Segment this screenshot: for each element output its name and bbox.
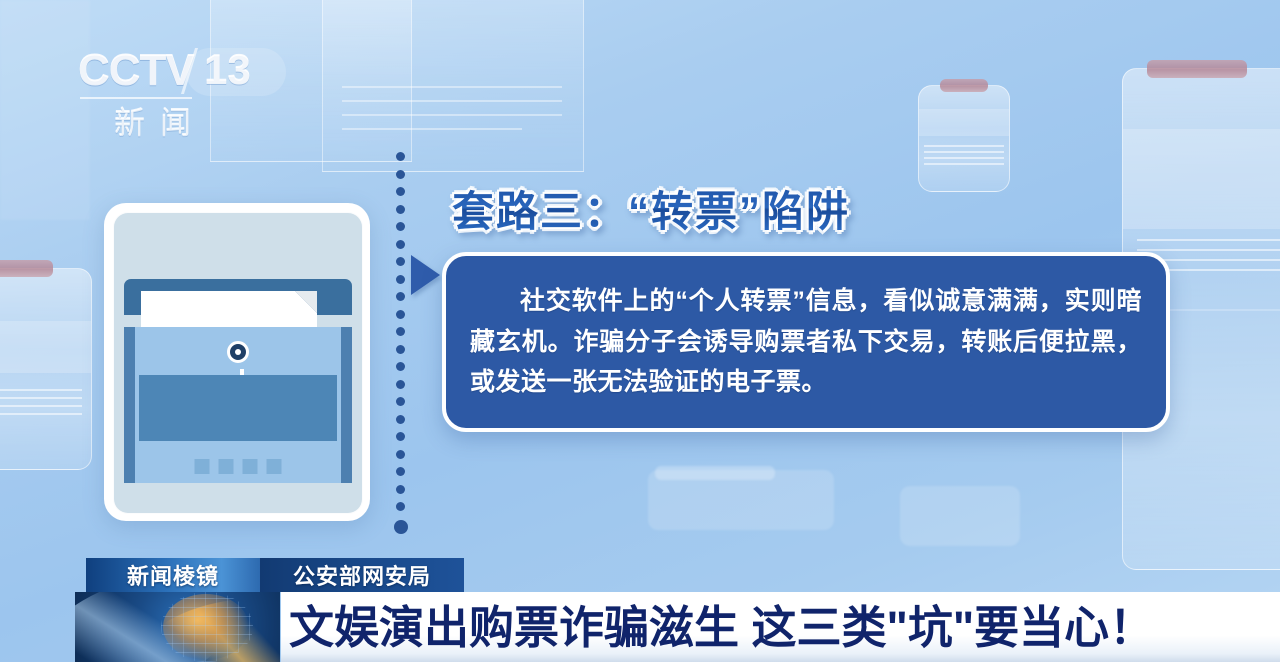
- logo-channel-number: 13: [204, 46, 251, 94]
- ticket-badge-icon: [227, 341, 249, 363]
- timeline-dot: [396, 240, 405, 249]
- background-document-line: [342, 100, 562, 102]
- ticket-pocket-right-edge: [341, 327, 352, 483]
- ticket-dot: [243, 459, 258, 474]
- clipboard-band: [1123, 129, 1280, 229]
- clipboard-clip-icon: [940, 79, 988, 92]
- section-title: 套路三：“转票”陷阱: [452, 178, 850, 239]
- content-callout-box: 社交软件上的“个人转票”信息，看似诚意满满，实则暗藏玄机。诈骗分子会诱导购票者私…: [442, 252, 1170, 432]
- dotted-timeline-icon: [394, 152, 408, 542]
- timeline-dot: [396, 485, 405, 494]
- ticket-card-inner: [113, 212, 363, 514]
- lower-third: 新闻棱镜 公安部网安局 文娱演出购票诈骗滋生 这三类"坑"要当心！: [0, 552, 1280, 662]
- timeline-dot: [396, 415, 405, 424]
- timeline-dot: [396, 187, 405, 196]
- logo-cctv-text: CCTV: [78, 46, 194, 96]
- timeline-dot: [396, 310, 405, 319]
- ticket-dot: [195, 459, 210, 474]
- headline-text: 文娱演出购票诈骗滋生 这三类"坑"要当心！: [289, 605, 1154, 650]
- background-document-line: [342, 86, 562, 88]
- timeline-dot: [396, 380, 405, 389]
- timeline-dot: [396, 205, 405, 214]
- timeline-dot: [396, 502, 405, 511]
- background-soft-shape: [900, 486, 1020, 546]
- program-tag: 新闻棱镜: [86, 558, 260, 592]
- background-soft-shape: [0, 0, 90, 220]
- clipboard-lines: [0, 389, 82, 421]
- timeline-dot: [396, 257, 405, 266]
- source-tag: 公安部网安局: [260, 558, 464, 592]
- content-body-text: 社交软件上的“个人转票”信息，看似诚意满满，实则暗藏玄机。诈骗分子会诱导购票者私…: [470, 281, 1142, 403]
- timeline-dot: [396, 432, 405, 441]
- timeline-dot: [396, 345, 405, 354]
- ticket-content-slab: [139, 375, 337, 441]
- clipboard-band: [919, 109, 1009, 136]
- timeline-dot: [396, 450, 405, 459]
- timeline-dot: [396, 467, 405, 476]
- headline-bar: 文娱演出购票诈骗滋生 这三类"坑"要当心！: [281, 592, 1280, 662]
- triangle-right-icon: [411, 255, 440, 295]
- clipboard-band: [0, 321, 91, 373]
- timeline-dot: [396, 362, 405, 371]
- ticket-perforation-dots: [195, 459, 282, 474]
- ticket-pocket-left-edge: [124, 327, 135, 483]
- background-document-line: [342, 114, 562, 116]
- timeline-dot: [396, 327, 405, 336]
- ticket-dot: [219, 459, 234, 474]
- cctv13-logo: CCTV 13 新闻: [78, 46, 288, 142]
- globe-icon: [75, 592, 280, 662]
- timeline-dot: [396, 397, 405, 406]
- globe-grid: [161, 592, 253, 662]
- timeline-dot: [396, 170, 405, 179]
- timeline-dot: [396, 222, 405, 231]
- timeline-dot: [396, 275, 405, 284]
- ticket-card-icon: [104, 203, 370, 521]
- background-document-line: [342, 128, 522, 130]
- clipboard-icon: [918, 85, 1010, 192]
- background-soft-shape: [655, 466, 775, 480]
- clipboard-icon: [0, 268, 92, 470]
- timeline-dot: [396, 292, 405, 301]
- clipboard-clip-icon: [0, 260, 53, 277]
- logo-subtitle: 新闻: [114, 98, 206, 143]
- broadcast-screen: CCTV 13 新闻: [0, 0, 1280, 662]
- ticket-paper-fold-shade: [295, 291, 317, 313]
- ticket-dot: [267, 459, 282, 474]
- clipboard-lines: [924, 145, 1003, 171]
- clipboard-clip-icon: [1147, 60, 1247, 78]
- timeline-end-dot: [394, 520, 408, 534]
- lower-third-tags: 新闻棱镜 公安部网安局: [86, 558, 464, 592]
- timeline-dot: [396, 152, 405, 161]
